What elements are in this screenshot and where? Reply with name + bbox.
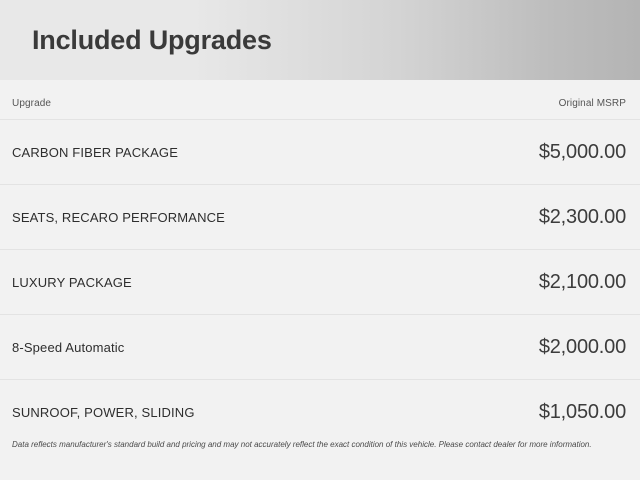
upgrade-price: $2,100.00 (539, 271, 626, 294)
column-header-upgrade: Upgrade (12, 98, 51, 109)
upgrade-price: $2,000.00 (539, 336, 626, 359)
table-column-headers: Upgrade Original MSRP (0, 80, 640, 119)
upgrade-price: $5,000.00 (539, 141, 626, 164)
column-header-msrp: Original MSRP (559, 98, 626, 109)
upgrades-table: Upgrade Original MSRP CARBON FIBER PACKA… (0, 80, 640, 480)
upgrade-price: $2,300.00 (539, 206, 626, 229)
table-row: SUNROOF, POWER, SLIDING $1,050.00 (0, 379, 640, 444)
table-row: 8-Speed Automatic $2,000.00 (0, 314, 640, 379)
upgrade-name: SEATS, RECARO PERFORMANCE (12, 210, 225, 225)
disclaimer-text: Data reflects manufacturer's standard bu… (12, 440, 628, 450)
page-title: Included Upgrades (32, 27, 272, 54)
table-row: SEATS, RECARO PERFORMANCE $2,300.00 (0, 184, 640, 249)
table-row: CARBON FIBER PACKAGE $5,000.00 (0, 119, 640, 184)
upgrade-name: 8-Speed Automatic (12, 340, 124, 355)
upgrades-panel: Included Upgrades Upgrade Original MSRP … (0, 0, 640, 480)
header-banner: Included Upgrades (0, 0, 640, 80)
upgrade-price: $1,050.00 (539, 401, 626, 424)
upgrade-name: LUXURY PACKAGE (12, 275, 132, 290)
table-rows: CARBON FIBER PACKAGE $5,000.00 SEATS, RE… (0, 119, 640, 444)
table-row: LUXURY PACKAGE $2,100.00 (0, 249, 640, 314)
upgrade-name: CARBON FIBER PACKAGE (12, 145, 178, 160)
upgrade-name: SUNROOF, POWER, SLIDING (12, 405, 195, 420)
